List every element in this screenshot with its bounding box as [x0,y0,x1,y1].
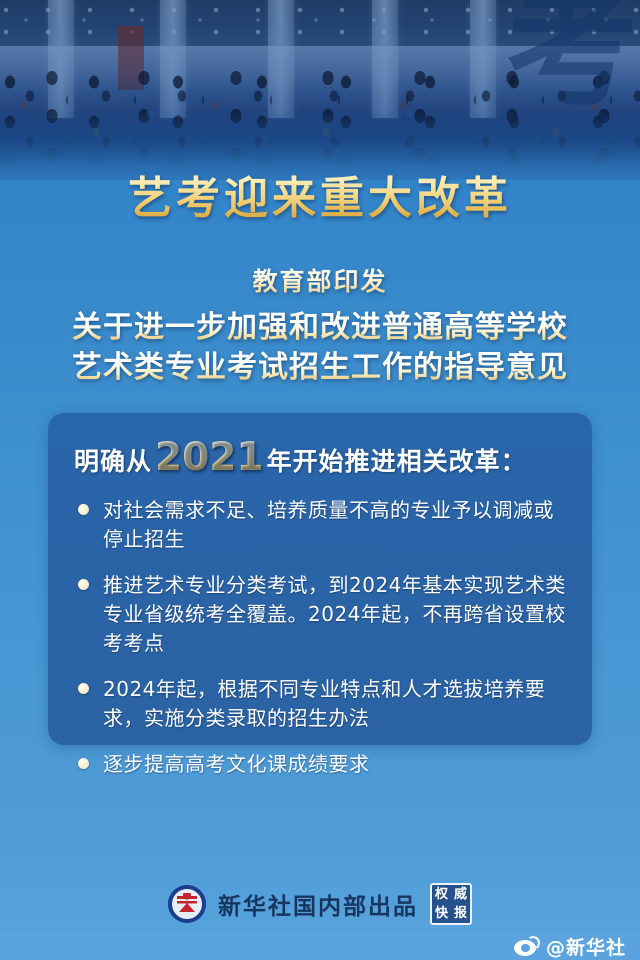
xinhua-logo-icon [168,885,206,923]
card-heading-year: 2021 [155,435,264,480]
kao-watermark-icon: 考 [506,0,638,114]
list-item: 逐步提高高考文化课成绩要求 [74,750,566,779]
authority-seal-icon: 权 威 快 报 [430,883,472,925]
list-item: 推进艺术专业分类考试，到2024年基本实现艺术类专业省级统考全覆盖。2024年起… [74,571,566,658]
reform-card: 明确从 2021 年开始推进相关改革： 对社会需求不足、培养质量不高的专业予以调… [48,413,592,745]
bullet-dot-icon [78,579,89,590]
logo-emblem [177,893,197,911]
bullet-dot-icon [78,504,89,515]
reform-bullet-list: 对社会需求不足、培养质量不高的专业予以调减或停止招生 推进艺术专业分类考试，到2… [74,496,566,779]
bottom-bar: @新华社 [0,932,640,960]
document-title-line-1: 关于进一步加强和改进普通高等学校 [0,308,640,348]
list-item: 2024年起，根据不同专业特点和人才选拔培养要求，实施分类录取的招生办法 [74,675,566,733]
document-title: 关于进一步加强和改进普通高等学校 艺术类专业考试招生工作的指导意见 [0,308,640,388]
seal-char-1: 权 [435,888,448,901]
list-item-text: 逐步提高高考文化课成绩要求 [103,750,370,779]
card-heading-suffix: 年开始推进相关改革： [267,442,527,478]
list-item-text: 推进艺术专业分类考试，到2024年基本实现艺术类专业省级统考全覆盖。2024年起… [103,571,566,658]
seal-char-3: 快 [435,907,448,920]
list-item-text: 对社会需求不足、培养质量不高的专业予以调减或停止招生 [103,496,566,554]
card-heading-prefix: 明确从 [74,442,152,478]
weibo-handle[interactable]: @新华社 [546,933,626,960]
seal-char-4: 报 [454,907,467,920]
list-item-text: 2024年起，根据不同专业特点和人才选拔培养要求，实施分类录取的招生办法 [103,675,566,733]
seal-char-2: 威 [454,888,467,901]
issuer-label: 教育部印发 [0,262,640,298]
list-item: 对社会需求不足、培养质量不高的专业予以调减或停止招生 [74,496,566,554]
document-title-line-2: 艺术类专业考试招生工作的指导意见 [0,348,640,388]
page-title: 艺考迎来重大改革 [0,162,640,226]
infographic-poster: 考 艺考迎来重大改革 教育部印发 关于进一步加强和改进普通高等学校 艺术类专业考… [0,0,640,960]
weibo-icon[interactable] [514,936,540,956]
footer: 新华社国内部出品 权 威 快 报 [0,876,640,932]
footer-attribution: 新华社国内部出品 [218,887,418,921]
bullet-dot-icon [78,683,89,694]
hero-photo: 考 [0,0,640,180]
card-heading: 明确从 2021 年开始推进相关改革： [74,435,566,480]
bullet-dot-icon [78,758,89,769]
